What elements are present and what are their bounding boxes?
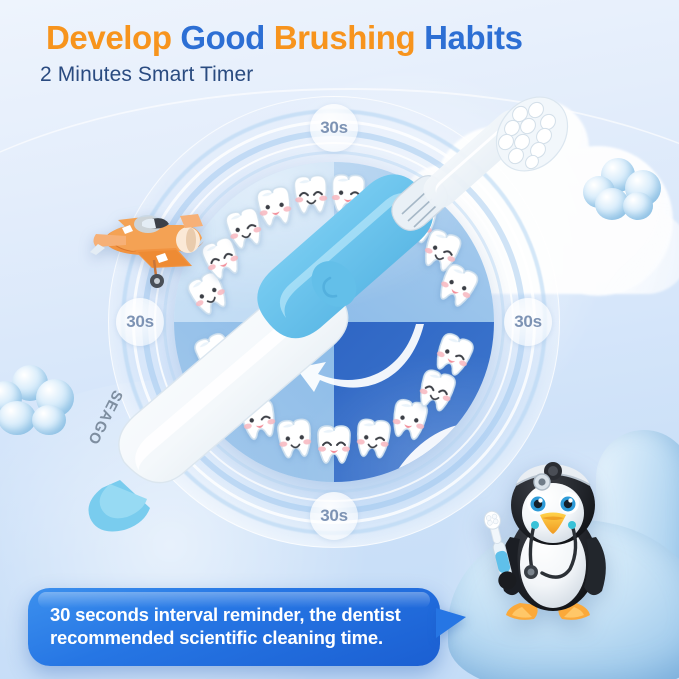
product-infographic: Develop Good Brushing Habits 2 Minutes S… xyxy=(0,0,679,679)
banner-line-2: recommended scientific cleaning time. xyxy=(50,626,418,649)
toy-airplane-icon xyxy=(82,198,214,294)
page-title: Develop Good Brushing Habits xyxy=(46,19,523,57)
timer-badge-right: 30s xyxy=(504,298,552,346)
cloud-icon xyxy=(0,365,78,435)
banner-line-1: 30 seconds interval reminder, the dentis… xyxy=(50,603,418,626)
cloud-icon xyxy=(583,158,665,220)
timer-badge-top: 30s xyxy=(310,104,358,152)
title-word-develop: Develop xyxy=(46,19,172,56)
timer-badge-left: 30s xyxy=(116,298,164,346)
title-word-good: Good xyxy=(180,19,265,56)
callout-banner: 30 seconds interval reminder, the dentis… xyxy=(28,588,440,666)
title-word-brushing: Brushing xyxy=(274,19,416,56)
timer-badge-bottom: 30s xyxy=(310,492,358,540)
penguin-mascot-icon xyxy=(478,455,628,627)
banner-tail xyxy=(436,608,466,638)
page-subtitle: 2 Minutes Smart Timer xyxy=(40,63,253,87)
title-word-habits: Habits xyxy=(424,19,522,56)
